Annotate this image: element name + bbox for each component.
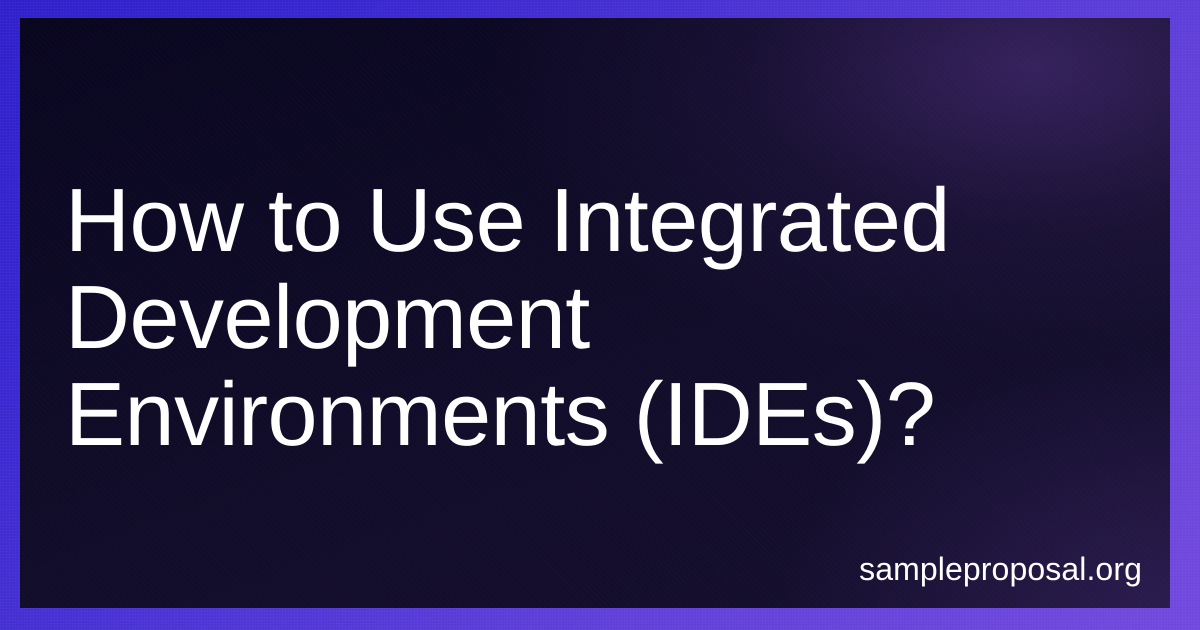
content-panel: How to Use Integrated Development Enviro… [20,18,1170,608]
site-attribution: sampleproposal.org [859,550,1142,588]
page-title: How to Use Integrated Development Enviro… [65,173,1110,464]
og-card: How to Use Integrated Development Enviro… [0,0,1200,630]
